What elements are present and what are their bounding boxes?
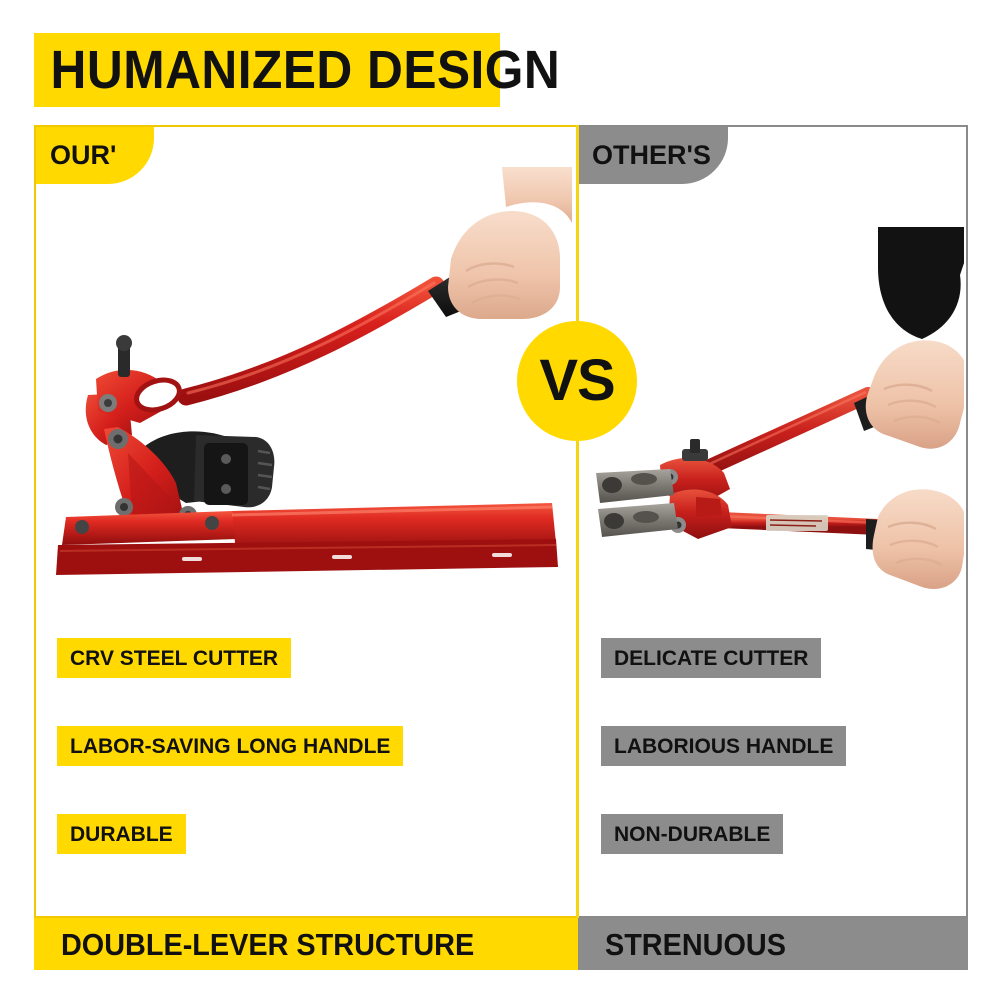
comparison-panel-ours: OUR' [34,125,578,918]
panel-tab-others: OTHER'S [578,127,728,184]
feature-bar-ours-2: LABOR-SAVING LONG HANDLE [57,726,403,766]
feature-bar-others-3: NON-DURABLE [601,814,783,854]
feature-label-others-1: DELICATE CUTTER [614,648,808,669]
versus-badge: VS [517,321,637,441]
bench-bolt-cutter-illustration [36,167,576,627]
footer-banner-ours: DOUBLE-LEVER STRUCTURE [34,918,578,970]
product-photo-others [578,227,964,627]
footer-label-ours: DOUBLE-LEVER STRUCTURE [34,929,474,960]
feature-bar-others-2: LABORIOUS HANDLE [601,726,846,766]
feature-bar-ours-1: CRV STEEL CUTTER [57,638,291,678]
feature-label-others-3: NON-DURABLE [614,824,770,845]
page-title-banner: HUMANIZED DESIGN [34,33,500,107]
footer-banner-others: STRENUOUS [578,918,968,970]
comparison-panel-others: OTHER'S [578,125,968,918]
feature-label-ours-1: CRV STEEL CUTTER [70,648,278,669]
feature-bar-ours-3: DURABLE [57,814,186,854]
versus-badge-label: VS [539,352,614,410]
panel-tab-others-label: OTHER'S [578,140,711,171]
feature-label-ours-2: LABOR-SAVING LONG HANDLE [70,736,390,757]
handheld-bolt-cutter-illustration [578,227,964,627]
footer-label-others: STRENUOUS [578,929,786,960]
page-title: HUMANIZED DESIGN [34,43,560,97]
feature-bar-others-1: DELICATE CUTTER [601,638,821,678]
feature-label-others-2: LABORIOUS HANDLE [614,736,833,757]
feature-label-ours-3: DURABLE [70,824,173,845]
product-photo-ours [36,167,576,627]
panel-divider [576,125,579,918]
